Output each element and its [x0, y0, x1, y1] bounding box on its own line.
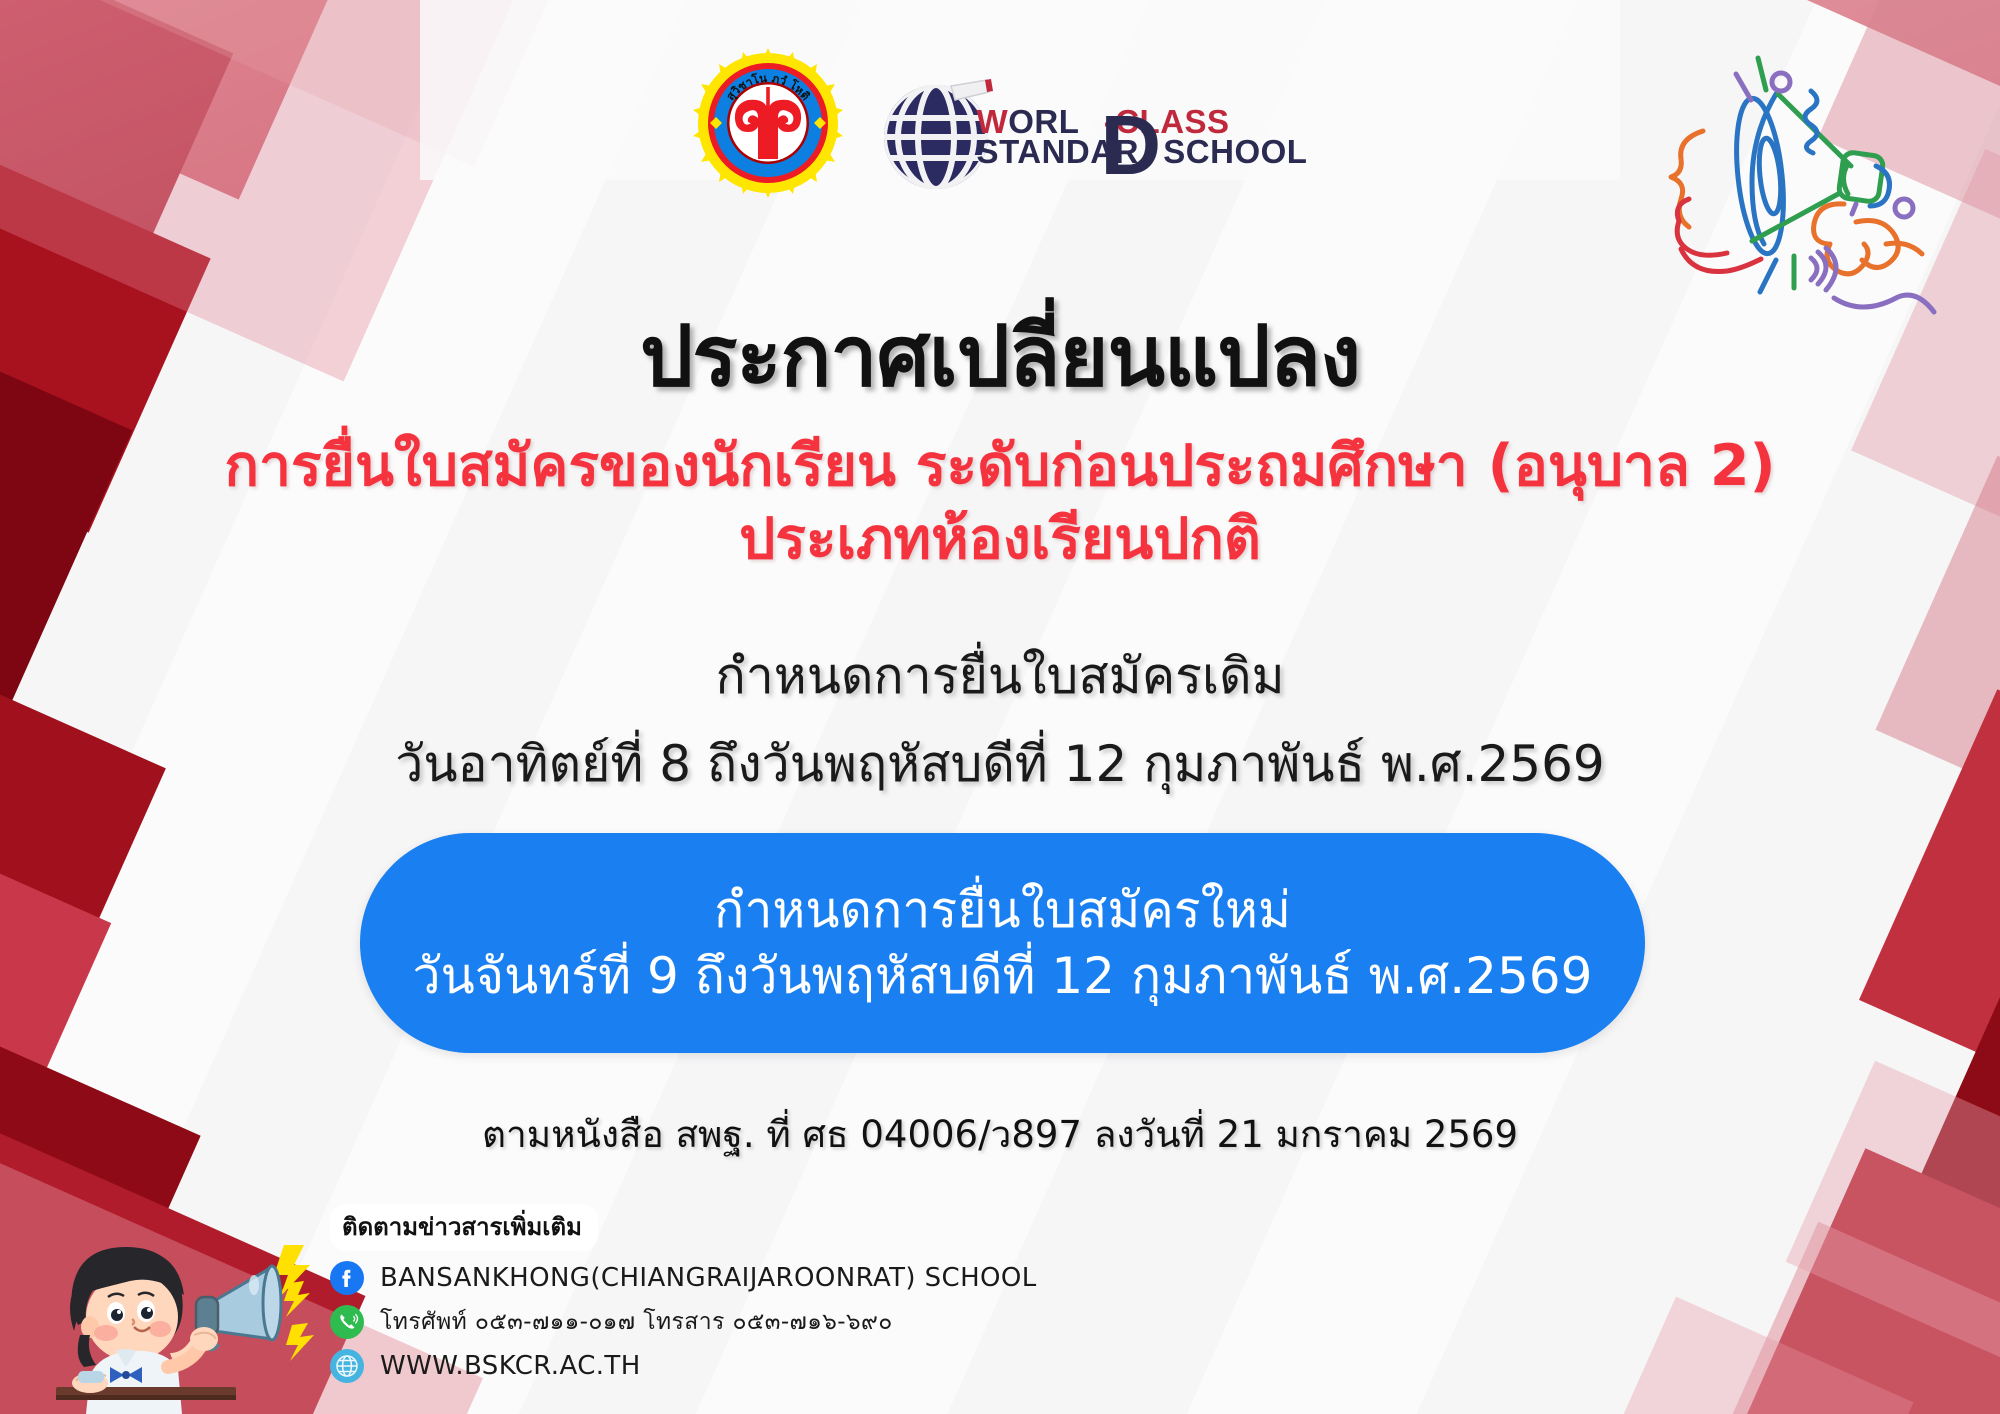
- globe-icon: [330, 1349, 364, 1383]
- subtitle: การยื่นใบสมัครของนักเรียน ระดับก่อนประถม…: [0, 430, 2000, 576]
- phone-numbers: โทรศัพท์ ๐๕๓-๗๑๑-๐๑๗ โทรสาร ๐๕๓-๗๑๖-๖๙๐: [380, 1304, 893, 1340]
- world-class-standard-school-logo: WORLD-CLASS STANDARDSCHOOL D: [877, 78, 1308, 196]
- page-title: ประกาศเปลี่ยนแปลง: [0, 288, 2000, 422]
- phone-line-icon: [330, 1305, 364, 1339]
- old-schedule-date: วันอาทิตย์ที่ 8 ถึงวันพฤหัสบดีที่ 12 กุม…: [0, 725, 2000, 804]
- wcss-s: S: [977, 133, 1000, 170]
- contact-row-website[interactable]: WWW.BSKCR.AC.TH: [330, 1349, 1037, 1383]
- contact-row-facebook[interactable]: BANSANKHONG(CHIANGRAIJAROONRAT) SCHOOL: [330, 1261, 1037, 1295]
- facebook-icon: [330, 1261, 364, 1295]
- website-url: WWW.BSKCR.AC.TH: [380, 1351, 641, 1381]
- follow-label: ติดตามข่าวสารเพิ่มเติม: [330, 1204, 598, 1251]
- subtitle-line-2: ประเภทห้องเรียนปกติ: [0, 503, 2000, 576]
- school-seal-logo: สุวิชาโน ภวํ โหติ: [693, 48, 843, 198]
- facebook-page-name: BANSANKHONG(CHIANGRAIJAROONRAT) SCHOOL: [380, 1263, 1037, 1293]
- world-class-text: WORLD-CLASS STANDARDSCHOOL D: [977, 107, 1308, 168]
- footer-contact-block: ติดตามข่าวสารเพิ่มเติม BANSANKHONG(CHIAN…: [330, 1204, 1037, 1392]
- new-schedule-callout: กำหนดการยื่นใบสมัครใหม่ วันจันทร์ที่ 9 ถ…: [360, 833, 1645, 1053]
- new-schedule-label: กำหนดการยื่นใบสมัครใหม่: [714, 881, 1291, 940]
- wcss-school: SCHOOL: [1163, 133, 1307, 170]
- student-with-megaphone-illustration: [28, 1239, 328, 1414]
- contact-row-phone[interactable]: โทรศัพท์ ๐๕๓-๗๑๑-๐๑๗ โทรสาร ๐๕๓-๗๑๖-๖๙๐: [330, 1304, 1037, 1340]
- new-schedule-date: วันจันทร์ที่ 9 ถึงวันพฤหัสบดีที่ 12 กุมภ…: [413, 946, 1593, 1006]
- old-schedule-label: กำหนดการยื่นใบสมัครเดิม: [0, 637, 2000, 716]
- wcss-big-d: D: [1101, 103, 1162, 187]
- subtitle-line-1: การยื่นใบสมัครของนักเรียน ระดับก่อนประถม…: [0, 430, 2000, 503]
- reference-line: ตามหนังสือ สพฐ. ที่ ศธ 04006/ว897 ลงวันท…: [0, 1105, 2000, 1164]
